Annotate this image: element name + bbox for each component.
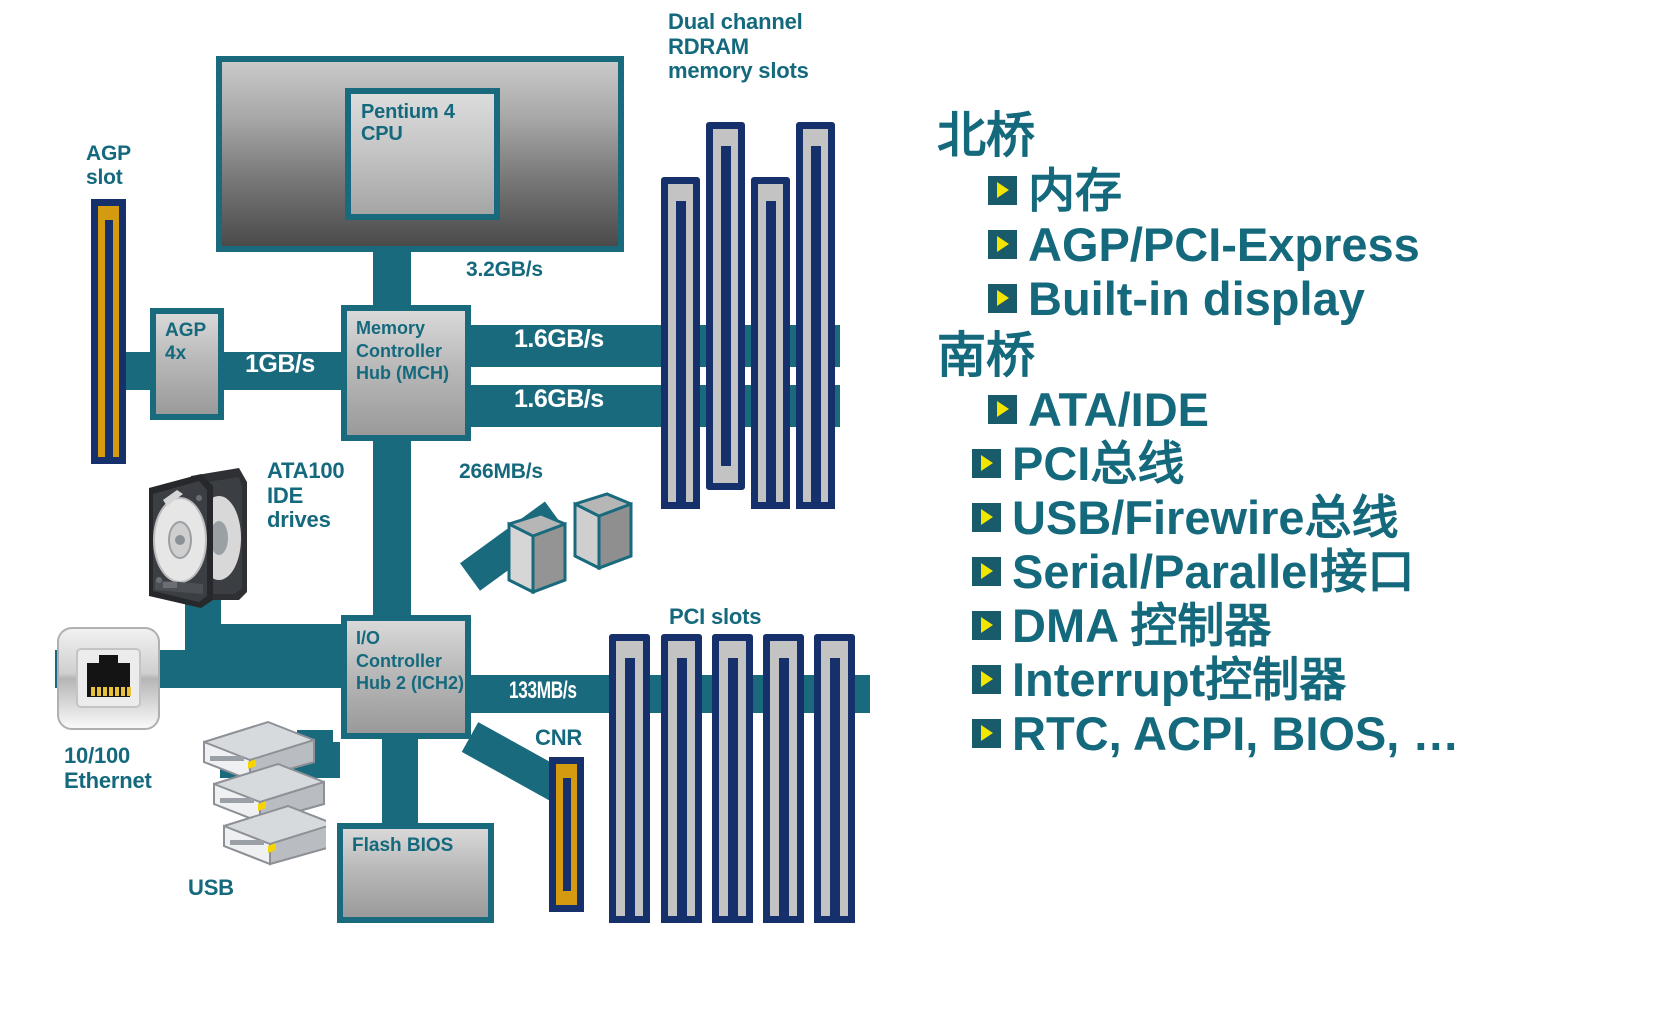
pci-slot-2[interactable] bbox=[661, 634, 702, 923]
bullet-arrow-icon bbox=[972, 557, 1001, 586]
mch-label: Memory Controller Hub (MCH) bbox=[356, 317, 465, 385]
list-item[interactable]: USB/Firewire总线 bbox=[972, 494, 1671, 541]
dual-channel-rdram-label: Dual channel RDRAM memory slots bbox=[668, 10, 809, 84]
cpu-label: Pentium 4 CPU bbox=[361, 101, 455, 146]
bullet-arrow-icon bbox=[972, 665, 1001, 694]
bullet-arrow-icon bbox=[972, 611, 1001, 640]
bullet-arrow-icon bbox=[988, 284, 1017, 313]
feature-panel: 北桥 内存 AGP/PCI-Express Built-in display 南… bbox=[930, 110, 1671, 757]
list-item-label: Built-in display bbox=[1028, 275, 1365, 322]
agp-4x-chip: AGP 4x bbox=[150, 308, 224, 420]
cnr-slot[interactable] bbox=[549, 757, 584, 912]
agp-4x-label: AGP 4x bbox=[165, 320, 218, 366]
list-item-label: 内存 bbox=[1028, 167, 1122, 214]
pci-slot-4[interactable] bbox=[763, 634, 804, 923]
list-item-label: RTC, ACPI, BIOS, … bbox=[1012, 710, 1459, 757]
memory-cubes-icon bbox=[503, 490, 638, 600]
hard-drive-icon bbox=[143, 460, 258, 608]
ata100-ide-drives-label: ATA100 IDE drives bbox=[267, 459, 344, 533]
rdram-slot-3-rail bbox=[766, 201, 776, 502]
bus-label-pci: 133MB/s bbox=[509, 677, 577, 705]
io-controller-hub-chip: I/O Controller Hub 2 (ICH2) bbox=[341, 615, 471, 739]
ethernet-label: 10/100 Ethernet bbox=[64, 744, 152, 793]
section-heading-northbridge: 北桥 bbox=[937, 110, 1671, 163]
cnr-label: CNR bbox=[535, 726, 582, 751]
bullet-arrow-icon bbox=[988, 176, 1017, 205]
flash-bios-label: Flash BIOS bbox=[352, 835, 453, 858]
pci-slot-5[interactable] bbox=[814, 634, 855, 923]
pci-slot-2-rail bbox=[677, 658, 687, 916]
rdram-slot-1[interactable] bbox=[661, 177, 700, 509]
list-item[interactable]: Serial/Parallel接口 bbox=[972, 548, 1671, 595]
list-item[interactable]: ATA/IDE bbox=[988, 386, 1671, 433]
rdram-slot-4-rail bbox=[811, 146, 821, 502]
list-item[interactable]: Interrupt控制器 bbox=[972, 656, 1671, 703]
chipset-diagram-slide: Pentium 4 CPU AGP slot AGP 4x Memory Con… bbox=[0, 0, 1671, 1036]
pci-slot-4-rail bbox=[779, 658, 789, 916]
list-item-label: USB/Firewire总线 bbox=[1012, 494, 1399, 541]
list-item[interactable]: RTC, ACPI, BIOS, … bbox=[972, 710, 1671, 757]
agp-slot[interactable] bbox=[91, 199, 126, 464]
bus-label-agp-mch: 1GB/s bbox=[245, 350, 315, 379]
pci-slot-3[interactable] bbox=[712, 634, 753, 923]
bullet-arrow-icon bbox=[972, 719, 1001, 748]
bus-label-memory-channel-1: 1.6GB/s bbox=[514, 325, 604, 354]
cnr-slot-rail bbox=[563, 778, 571, 891]
list-item-label: DMA 控制器 bbox=[1012, 602, 1271, 649]
ethernet-port-icon bbox=[57, 627, 160, 730]
list-item-label: Interrupt控制器 bbox=[1012, 656, 1346, 703]
rdram-slot-3[interactable] bbox=[751, 177, 790, 509]
bus-label-mch-ich2: 266MB/s bbox=[459, 460, 543, 484]
pci-slot-1[interactable] bbox=[609, 634, 650, 923]
list-item-label: ATA/IDE bbox=[1028, 386, 1209, 433]
rdram-slot-2-rail bbox=[721, 146, 731, 466]
flash-bios-chip: Flash BIOS bbox=[337, 823, 494, 923]
list-item-label: PCI总线 bbox=[1012, 440, 1184, 487]
list-item-label: Serial/Parallel接口 bbox=[1012, 548, 1414, 595]
pci-slots-label: PCI slots bbox=[669, 605, 761, 630]
memory-controller-hub-chip: Memory Controller Hub (MCH) bbox=[341, 305, 471, 441]
pci-slot-3-rail bbox=[728, 658, 738, 916]
rdram-slot-4[interactable] bbox=[796, 122, 835, 509]
list-item[interactable]: PCI总线 bbox=[972, 440, 1671, 487]
bullet-arrow-icon bbox=[988, 395, 1017, 424]
pci-slot-5-rail bbox=[830, 658, 840, 916]
bus-label-memory-channel-2: 1.6GB/s bbox=[514, 385, 604, 414]
list-item[interactable]: 内存 bbox=[988, 167, 1671, 214]
usb-label: USB bbox=[188, 876, 234, 901]
ich2-label: I/O Controller Hub 2 (ICH2) bbox=[356, 627, 465, 695]
agp-slot-label: AGP slot bbox=[86, 142, 131, 189]
list-item[interactable]: AGP/PCI-Express bbox=[988, 221, 1671, 268]
pci-slot-1-rail bbox=[625, 658, 635, 916]
cpu-die: Pentium 4 CPU bbox=[345, 88, 500, 220]
bullet-arrow-icon bbox=[972, 449, 1001, 478]
list-item[interactable]: Built-in display bbox=[988, 275, 1671, 322]
rdram-slot-2[interactable] bbox=[706, 122, 745, 490]
list-item[interactable]: DMA 控制器 bbox=[972, 602, 1671, 649]
bullet-arrow-icon bbox=[988, 230, 1017, 259]
list-item-label: AGP/PCI-Express bbox=[1028, 221, 1420, 268]
rdram-slot-1-rail bbox=[676, 201, 686, 502]
agp-slot-rail bbox=[105, 220, 113, 457]
bus-label-cpu-mch: 3.2GB/s bbox=[466, 258, 543, 282]
bullet-arrow-icon bbox=[972, 503, 1001, 532]
section-heading-southbridge: 南桥 bbox=[937, 330, 1671, 383]
